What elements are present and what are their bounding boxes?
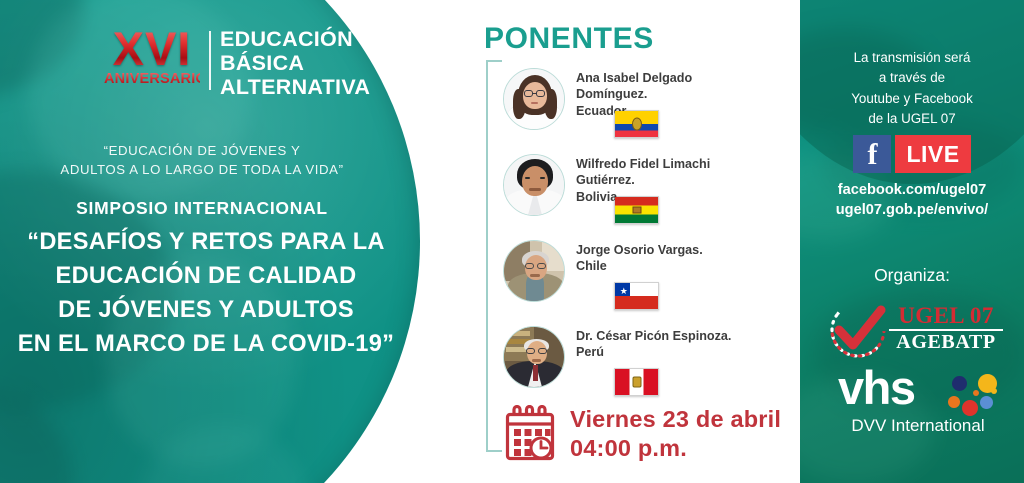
program-line-3: ALTERNATIVA bbox=[220, 75, 370, 99]
page-title: “DESAFÍOS Y RETOS PARA LA EDUCACIÓN DE C… bbox=[0, 226, 412, 362]
avatar bbox=[504, 327, 564, 387]
live-badge: LIVE bbox=[895, 135, 970, 173]
red-check-dotted-circle-icon bbox=[827, 300, 889, 362]
event-date-line-1: Viernes 23 de abril bbox=[570, 405, 781, 434]
avatar bbox=[504, 155, 564, 215]
list-item: Dr. César Picón Espinoza. Perú bbox=[503, 324, 803, 410]
speaker-name-line-1: Ana Isabel Delgado bbox=[576, 70, 794, 86]
vhs-dots-graphic bbox=[942, 372, 1000, 418]
speakers-list: Ana Isabel Delgado Domínguez. Ecuador bbox=[503, 66, 803, 410]
avatar bbox=[504, 69, 564, 129]
speaker-name-line-1: Jorge Osorio Vargas. bbox=[576, 242, 794, 258]
title-line-2: EDUCACIÓN DE CALIDAD bbox=[0, 260, 412, 294]
facebook-live-badge[interactable]: f LIVE bbox=[800, 135, 1024, 173]
avatar bbox=[504, 241, 564, 301]
transmission-line-2: a través de bbox=[800, 68, 1024, 88]
facebook-glyph: f bbox=[867, 140, 877, 170]
event-poster: XVI ANIVERSARIO EDUCACIÓN BÁSICA ALTERNA… bbox=[0, 0, 1024, 483]
transmission-note: La transmisión será a través de Youtube … bbox=[800, 48, 1024, 130]
lockup-divider bbox=[209, 31, 211, 90]
quote-subtitle: “EDUCACIÓN DE JÓVENES Y ADULTOS A LO LAR… bbox=[0, 142, 404, 179]
list-item: Wilfredo Fidel Limachi Gutiérrez. Bolivi… bbox=[503, 152, 803, 238]
speakers-section-title: PONENTES bbox=[484, 22, 654, 56]
transmission-line-3: Youtube y Facebook bbox=[800, 89, 1024, 109]
speaker-name-line-1: Wilfredo Fidel Limachi bbox=[576, 156, 794, 172]
stream-links[interactable]: facebook.com/ugel07 ugel07.gob.pe/envivo… bbox=[800, 180, 1024, 220]
speaker-name-line-2: Gutiérrez. bbox=[576, 172, 794, 188]
left-content: XVI ANIVERSARIO EDUCACIÓN BÁSICA ALTERNA… bbox=[0, 0, 430, 483]
list-item: Jorge Osorio Vargas. Chile ★ bbox=[503, 238, 803, 324]
calendar-clock-icon bbox=[503, 405, 559, 463]
anniversary-number: XVI bbox=[104, 27, 200, 70]
speaker-info: Ana Isabel Delgado Domínguez. Ecuador bbox=[576, 70, 794, 119]
speaker-photo-wilfredo-limachi bbox=[503, 154, 565, 216]
ugel-title: UGEL 07 bbox=[889, 304, 1003, 328]
list-item: Ana Isabel Delgado Domínguez. Ecuador bbox=[503, 66, 803, 152]
event-date-block: Viernes 23 de abril 04:00 p.m. bbox=[503, 405, 781, 463]
title-line-1: “DESAFÍOS Y RETOS PARA LA bbox=[0, 226, 412, 260]
title-line-3: DE JÓVENES Y ADULTOS bbox=[0, 294, 412, 328]
anniversary-lockup: XVI ANIVERSARIO EDUCACIÓN BÁSICA ALTERNA… bbox=[104, 27, 370, 99]
vhs-dvv-logo: vhs DVV International bbox=[838, 370, 998, 428]
bracket-top-tick bbox=[486, 60, 502, 62]
bracket-vertical-line bbox=[486, 60, 488, 452]
speaker-country: Bolivia bbox=[576, 189, 794, 205]
speaker-name-line-2: Domínguez. bbox=[576, 86, 794, 102]
website-link[interactable]: ugel07.gob.pe/envivo/ bbox=[800, 200, 1024, 220]
live-label: LIVE bbox=[906, 141, 959, 168]
speaker-photo-ana-isabel-delgado bbox=[503, 68, 565, 130]
transmission-line-4: de la UGEL 07 bbox=[800, 109, 1024, 129]
facebook-link[interactable]: facebook.com/ugel07 bbox=[800, 180, 1024, 200]
speaker-photo-jorge-osorio-vargas bbox=[503, 240, 565, 302]
quote-subtitle-line-1: “EDUCACIÓN DE JÓVENES Y bbox=[0, 142, 404, 161]
speaker-country: Ecuador bbox=[576, 103, 794, 119]
ugel07-agebatp-logo: UGEL 07 AGEBATP bbox=[827, 300, 1003, 362]
ugel-wordmark: UGEL 07 AGEBATP bbox=[889, 304, 1003, 353]
speakers-bracket bbox=[486, 60, 502, 452]
bolivia-flag bbox=[614, 196, 659, 224]
event-kind: SIMPOSIO INTERNACIONAL bbox=[0, 198, 404, 219]
transmission-line-1: La transmisión será bbox=[800, 48, 1024, 68]
speaker-info: Jorge Osorio Vargas. Chile bbox=[576, 242, 794, 275]
peru-flag bbox=[614, 368, 659, 396]
speaker-info: Dr. César Picón Espinoza. Perú bbox=[576, 328, 794, 361]
vhs-wordmark: vhs bbox=[838, 364, 915, 411]
program-line-2: BÁSICA bbox=[220, 51, 370, 75]
chile-flag: ★ bbox=[614, 282, 659, 310]
right-panel-content: La transmisión será a través de Youtube … bbox=[800, 0, 1024, 483]
facebook-icon[interactable]: f bbox=[853, 135, 891, 173]
event-date-line-2: 04:00 p.m. bbox=[570, 434, 781, 463]
ecuador-flag bbox=[614, 110, 659, 138]
bracket-bottom-tick bbox=[486, 450, 502, 452]
anniversary-number-block: XVI ANIVERSARIO bbox=[104, 27, 200, 87]
program-name: EDUCACIÓN BÁSICA ALTERNATIVA bbox=[220, 27, 370, 99]
speaker-name-line-1: Dr. César Picón Espinoza. bbox=[576, 328, 794, 344]
program-line-1: EDUCACIÓN bbox=[220, 27, 370, 51]
speaker-country: Perú bbox=[576, 344, 794, 360]
dvv-international-label: DVV International bbox=[830, 416, 1006, 436]
right-green-panel: La transmisión será a través de Youtube … bbox=[800, 0, 1024, 483]
event-date-text: Viernes 23 de abril 04:00 p.m. bbox=[570, 405, 781, 462]
speaker-info: Wilfredo Fidel Limachi Gutiérrez. Bolivi… bbox=[576, 156, 794, 205]
organizer-label: Organiza: bbox=[800, 265, 1024, 286]
quote-subtitle-line-2: ADULTOS A LO LARGO DE TODA LA VIDA” bbox=[0, 161, 404, 180]
speaker-photo-cesar-picon-espinoza bbox=[503, 326, 565, 388]
title-line-4: EN EL MARCO DE LA COVID-19” bbox=[0, 328, 412, 362]
speaker-country: Chile bbox=[576, 258, 794, 274]
ugel-subtitle: AGEBATP bbox=[889, 332, 1003, 353]
